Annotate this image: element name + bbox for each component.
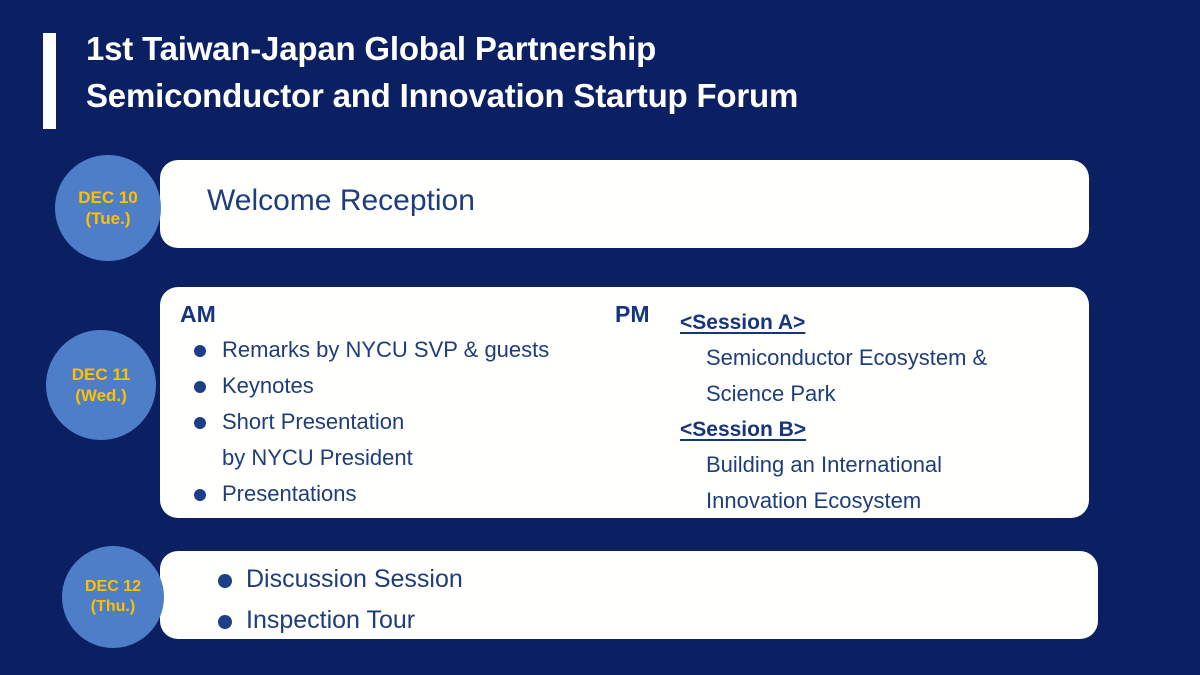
bullet-dot-icon: [218, 574, 232, 588]
list-item-continuation: by NYCU President: [188, 440, 618, 476]
dec-12-agenda-list: Discussion Session Inspection Tour: [210, 559, 810, 641]
bullet-dot-icon: [194, 345, 206, 357]
session-b-heading: <Session B>: [680, 412, 1075, 447]
session-b-line-1: Building an International: [680, 447, 1075, 483]
date-badge-weekday: (Thu.): [91, 597, 135, 617]
list-item-label: Presentations: [222, 481, 357, 506]
date-badge-weekday: (Tue.): [85, 208, 130, 229]
list-item-label: Remarks by NYCU SVP & guests: [222, 337, 549, 362]
bullet-dot-icon: [194, 381, 206, 393]
bullet-dot-icon: [194, 489, 206, 501]
date-badge-dec-11: DEC 11 (Wed.): [46, 330, 156, 440]
list-item: Remarks by NYCU SVP & guests: [188, 332, 618, 368]
date-badge-dec-12: DEC 12 (Thu.): [62, 546, 164, 648]
list-item: Inspection Tour: [210, 600, 810, 641]
list-item-label: Discussion Session: [246, 565, 463, 593]
schedule-card-dec-12: Discussion Session Inspection Tour: [160, 551, 1098, 639]
session-b-line-2: Innovation Ecosystem: [680, 483, 1075, 519]
pm-column-label: PM: [615, 301, 650, 328]
page-title: 1st Taiwan-Japan Global Partnership Semi…: [86, 25, 798, 119]
date-badge-weekday: (Wed.): [75, 385, 127, 406]
title-accent-bar: [43, 33, 56, 129]
date-badge-month: DEC 11: [72, 364, 131, 385]
list-item: Presentations: [188, 476, 618, 512]
bullet-dot-icon: [218, 615, 232, 629]
list-item-label: Inspection Tour: [246, 606, 415, 634]
list-item-label: Keynotes: [222, 373, 314, 398]
schedule-card-dec-11: AM PM Remarks by NYCU SVP & guests Keyno…: [160, 287, 1089, 518]
session-a-line-2: Science Park: [680, 376, 1075, 412]
list-item: Keynotes: [188, 368, 618, 404]
list-item-label: Short Presentation: [222, 409, 404, 434]
am-agenda-list: Remarks by NYCU SVP & guests Keynotes Sh…: [188, 332, 618, 512]
bullet-dot-icon: [194, 417, 206, 429]
list-item: Short Presentation: [188, 404, 618, 440]
date-badge-month: DEC 10: [78, 187, 138, 208]
am-column-label: AM: [180, 301, 216, 328]
pm-agenda-list: <Session A> Semiconductor Ecosystem & Sc…: [680, 305, 1075, 519]
date-badge-dec-10: DEC 10 (Tue.): [55, 155, 161, 261]
list-item: Discussion Session: [210, 559, 810, 600]
page-title-block: 1st Taiwan-Japan Global Partnership Semi…: [43, 33, 1143, 133]
session-title-welcome-reception: Welcome Reception: [207, 184, 475, 218]
schedule-card-dec-10: Welcome Reception: [160, 160, 1089, 248]
date-badge-month: DEC 12: [85, 577, 141, 597]
session-a-heading: <Session A>: [680, 305, 1075, 340]
session-a-line-1: Semiconductor Ecosystem &: [680, 340, 1075, 376]
